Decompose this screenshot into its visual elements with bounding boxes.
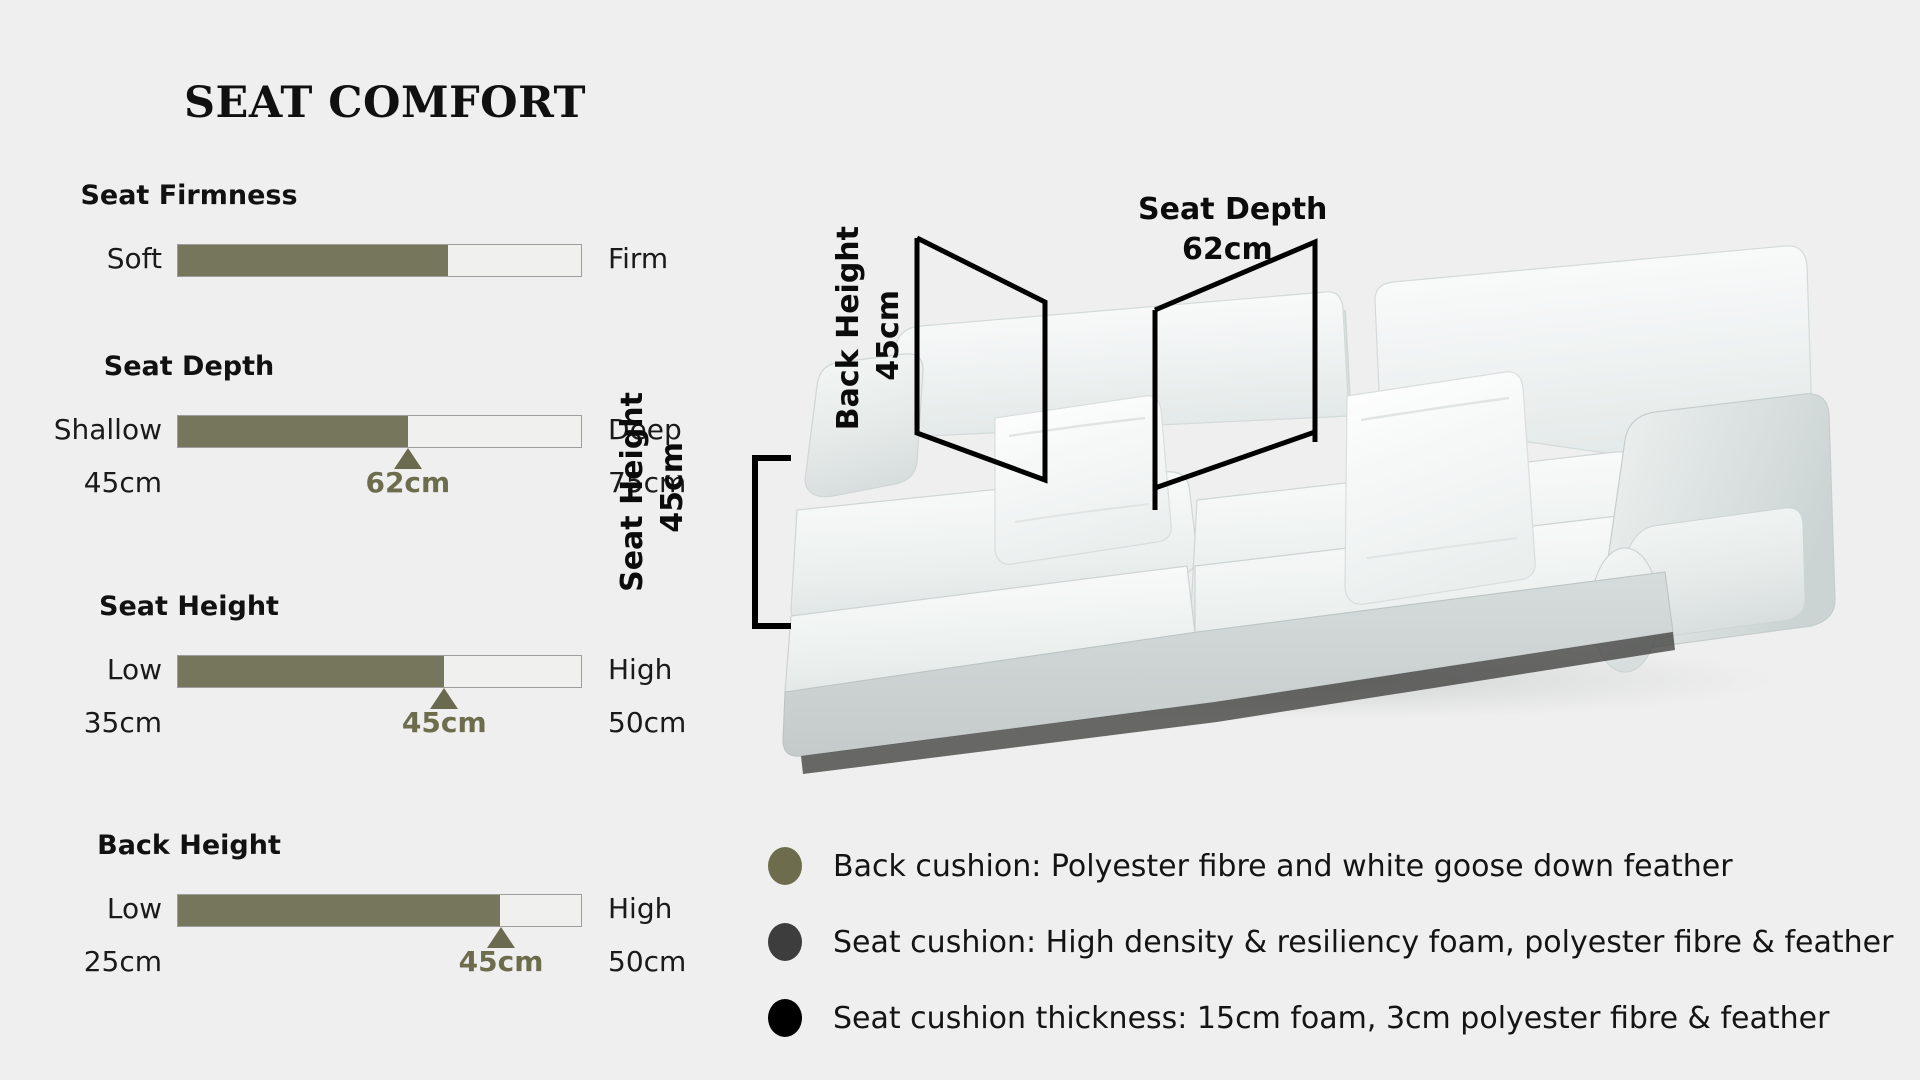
metric-title: Back Height [0, 830, 760, 861]
slider-fill [178, 895, 500, 926]
slider-left-label: Low [107, 888, 162, 930]
metric-title: Seat Depth [0, 351, 760, 382]
slider-right-label: High [608, 888, 672, 930]
materials-legend: Back cushion: Polyester fibre and white … [768, 828, 1908, 1056]
legend-dot-icon [768, 923, 802, 961]
legend-item: Back cushion: Polyester fibre and white … [768, 828, 1908, 904]
legend-dot-icon [768, 847, 802, 885]
seat-height-dimension-value: 45cm [657, 442, 689, 533]
slider-track[interactable] [177, 415, 582, 448]
metric-title: Seat Height [0, 591, 760, 622]
value-row: 25cm 45cm 50cm [0, 942, 760, 982]
slider-seat-firmness[interactable]: Soft Firm [0, 238, 760, 280]
legend-label: Seat cushion: High density & resiliency … [833, 925, 1893, 960]
slider-fill [178, 656, 444, 687]
metric-title: Seat Firmness [0, 180, 760, 211]
back-height-dimension-value: 45cm [873, 290, 905, 381]
slider-seat-height[interactable]: Low High [0, 649, 760, 691]
slider-fill [178, 245, 448, 276]
slider-left-label: Shallow [54, 409, 162, 451]
value-min: 45cm [84, 463, 162, 503]
seat-height-dimension-label: Seat Height [617, 392, 649, 592]
value-min: 25cm [84, 942, 162, 982]
slider-fill [178, 416, 408, 447]
back-height-dimension-label: Back Height [833, 226, 865, 430]
slider-left-label: Low [107, 649, 162, 691]
slider-track[interactable] [177, 244, 582, 277]
seat-depth-dimension-value: 62cm [1182, 234, 1273, 266]
slider-back-height[interactable]: Low High [0, 888, 760, 930]
sofa-diagram: Back Height 45cm Seat Depth 62cm Seat He… [745, 180, 1920, 820]
seat-depth-dimension-label: Seat Depth [1138, 194, 1327, 226]
legend-label: Back cushion: Polyester fibre and white … [833, 849, 1733, 884]
legend-item: Seat cushion: High density & resiliency … [768, 904, 1908, 980]
value-current: 62cm [365, 463, 450, 503]
slider-track[interactable] [177, 894, 582, 927]
value-min: 35cm [84, 703, 162, 743]
value-max: 50cm [608, 703, 686, 743]
slider-right-label: High [608, 649, 672, 691]
value-max: 50cm [608, 942, 686, 982]
slider-right-label: Firm [608, 238, 668, 280]
sofa-illustration [745, 180, 1920, 820]
value-current: 45cm [459, 942, 544, 982]
legend-label: Seat cushion thickness: 15cm foam, 3cm p… [833, 1001, 1829, 1036]
slider-left-label: Soft [107, 238, 162, 280]
page-title: SEAT COMFORT [184, 78, 586, 128]
value-current: 45cm [402, 703, 487, 743]
legend-item: Seat cushion thickness: 15cm foam, 3cm p… [768, 980, 1908, 1056]
value-row: 35cm 45cm 50cm [0, 703, 760, 743]
slider-track[interactable] [177, 655, 582, 688]
legend-dot-icon [768, 999, 802, 1037]
